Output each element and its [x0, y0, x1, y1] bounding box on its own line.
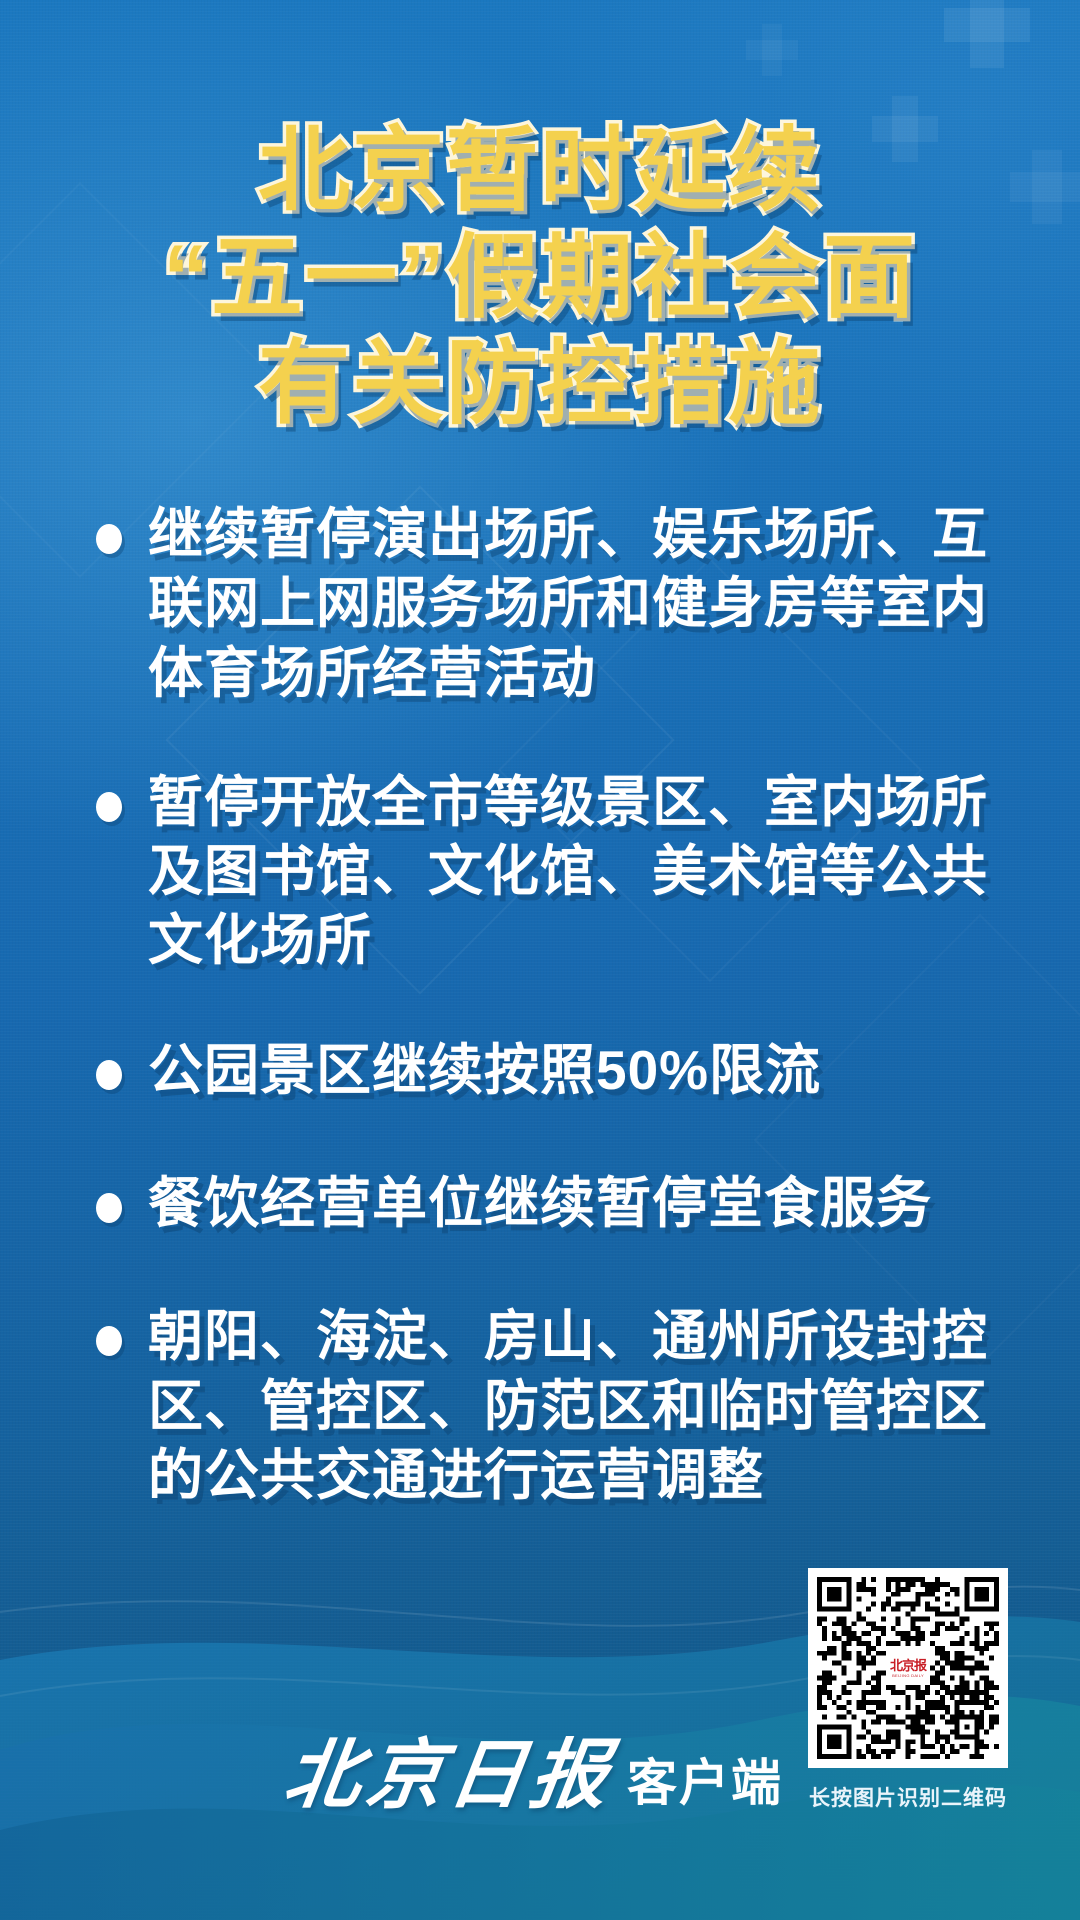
list-item-line: 继续暂停演出场所、娱乐场所、互: [148, 500, 996, 569]
cross-icon: [746, 24, 798, 76]
qr-code[interactable]: 北京报 BEIJING DAILY: [808, 1568, 1008, 1768]
list-item: 继续暂停演出场所、娱乐场所、互 联网上网服务场所和健身房等室内 体育场所经营活动: [96, 500, 996, 708]
list-item: 餐饮经营单位继续暂停堂食服务: [96, 1169, 996, 1238]
list-item-text: 继续暂停演出场所、娱乐场所、互 联网上网服务场所和健身房等室内 体育场所经营活动: [148, 500, 996, 708]
list-item-text: 暂停开放全市等级景区、室内场所 及图书馆、文化馆、美术馆等公共 文化场所: [148, 768, 996, 976]
page-title: 北京暂时延续 “五一”假期社会面 有关防控措施: [0, 118, 1080, 438]
list-item-text: 餐饮经营单位继续暂停堂食服务: [148, 1169, 996, 1238]
brand-name-calligraphy: 北京日报: [280, 1738, 619, 1814]
list-item-line: 体育场所经营活动: [148, 639, 996, 708]
list-item-line: 联网上网服务场所和健身房等室内: [148, 569, 996, 638]
title-line-1: 北京暂时延续: [0, 118, 1080, 225]
qr-center-logo: 北京报 BEIJING DAILY: [886, 1651, 930, 1685]
list-item: 朝阳、海淀、房山、通州所设封控 区、管控区、防范区和临时管控区 的公共交通进行运…: [96, 1302, 996, 1510]
list-item-line: 公园景区继续按照50%限流: [148, 1036, 996, 1105]
bullet-dot-icon: [96, 524, 122, 554]
list-item-line: 及图书馆、文化馆、美术馆等公共: [148, 837, 996, 906]
bullet-dot-icon: [96, 792, 122, 822]
qr-logo-en: BEIJING DAILY: [892, 1674, 924, 1678]
qr-code-block: 北京报 BEIJING DAILY 长按图片识别二维码: [808, 1568, 1008, 1812]
list-item: 公园景区继续按照50%限流: [96, 1036, 996, 1105]
list-item-line: 的公共交通进行运营调整: [148, 1441, 996, 1510]
poster-root: 北京暂时延续 “五一”假期社会面 有关防控措施 继续暂停演出场所、娱乐场所、互 …: [0, 0, 1080, 1920]
list-item-line: 朝阳、海淀、房山、通州所设封控: [148, 1302, 996, 1371]
bullet-dot-icon: [96, 1326, 122, 1356]
list-item-line: 暂停开放全市等级景区、室内场所: [148, 768, 996, 837]
list-item-line: 区、管控区、防范区和临时管控区: [148, 1372, 996, 1441]
brand-suffix: 客户端: [627, 1758, 783, 1814]
title-line-2: “五一”假期社会面: [0, 225, 1080, 332]
list-item-text: 朝阳、海淀、房山、通州所设封控 区、管控区、防范区和临时管控区 的公共交通进行运…: [148, 1302, 996, 1510]
qr-logo-cn: 北京报: [890, 1659, 926, 1672]
list-item: 暂停开放全市等级景区、室内场所 及图书馆、文化馆、美术馆等公共 文化场所: [96, 768, 996, 976]
brand-logo: 北京日报 客户端: [285, 1738, 783, 1814]
bullet-dot-icon: [96, 1193, 122, 1223]
qr-caption: 长按图片识别二维码: [780, 1782, 1036, 1812]
list-item-line: 文化场所: [148, 906, 996, 975]
measures-list: 继续暂停演出场所、娱乐场所、互 联网上网服务场所和健身房等室内 体育场所经营活动…: [96, 500, 996, 1510]
bullet-dot-icon: [96, 1060, 122, 1090]
title-line-3: 有关防控措施: [0, 331, 1080, 438]
list-item-text: 公园景区继续按照50%限流: [148, 1036, 996, 1105]
list-item-line: 餐饮经营单位继续暂停堂食服务: [148, 1169, 996, 1238]
cross-icon: [944, 0, 1030, 68]
